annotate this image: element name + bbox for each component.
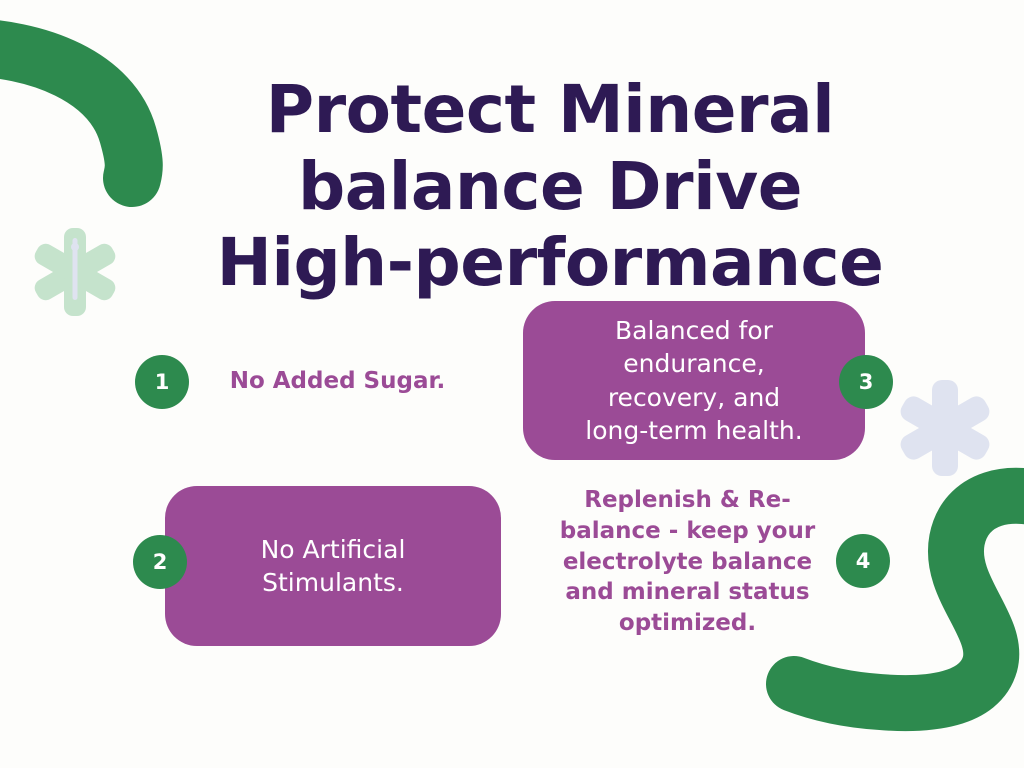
- item-text-4: Replenish & Re- balance - keep your elec…: [540, 485, 835, 639]
- item-text-1: No Added Sugar.: [205, 367, 470, 397]
- item-text-2: No Artificial Stimulants.: [261, 533, 406, 600]
- item-badge-4[interactable]: 4: [836, 534, 890, 588]
- item-card-2: No Artificial Stimulants.: [165, 486, 501, 646]
- item-badge-1[interactable]: 1: [135, 355, 189, 409]
- green-curve-top-left-icon: [0, 47, 134, 178]
- item-card-3: Balanced for endurance, recovery, and lo…: [523, 301, 865, 460]
- infographic-canvas: Protect Mineral balance Drive High-perfo…: [0, 0, 1024, 768]
- item-badge-3[interactable]: 3: [839, 355, 893, 409]
- asterisk-left-icon: [31, 228, 118, 316]
- item-badge-2[interactable]: 2: [133, 535, 187, 589]
- asterisk-right-icon: [897, 380, 993, 476]
- item-text-3: Balanced for endurance, recovery, and lo…: [585, 314, 802, 447]
- page-title: Protect Mineral balance Drive High-perfo…: [150, 72, 950, 302]
